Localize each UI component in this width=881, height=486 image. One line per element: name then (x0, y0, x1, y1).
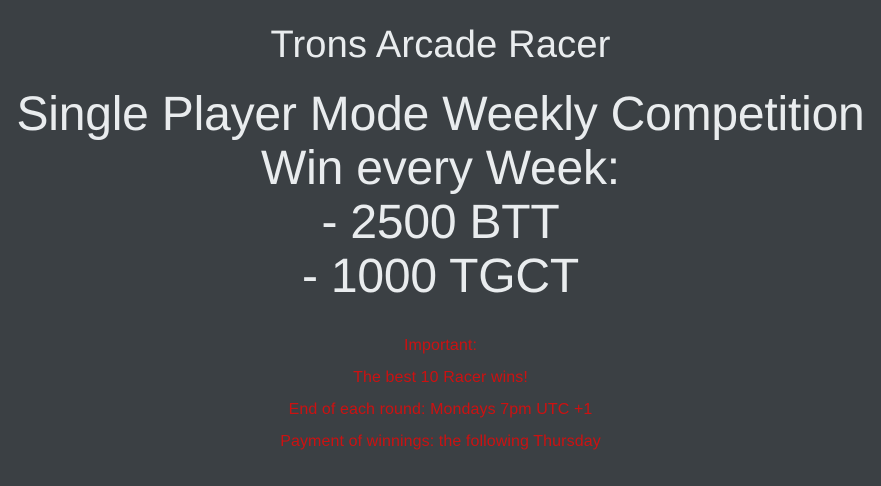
important-notes-block: Important: The best 10 Racer wins! End o… (0, 330, 881, 458)
headline-win-every-week: Win every Week: (0, 142, 881, 196)
page-title: Trons Arcade Racer (270, 26, 610, 64)
headline-competition-name: Single Player Mode Weekly Competition (0, 88, 881, 142)
prize-item-btt: - 2500 BTT (0, 196, 881, 250)
note-payment-schedule: Payment of winnings: the following Thurs… (0, 426, 881, 458)
note-best-racers: The best 10 Racer wins! (0, 362, 881, 394)
promo-poster: Trons Arcade Racer Single Player Mode We… (0, 0, 881, 486)
prize-item-tgct: - 1000 TGCT (0, 250, 881, 304)
headline-block: Single Player Mode Weekly Competition Wi… (0, 88, 881, 304)
note-round-end: End of each round: Mondays 7pm UTC +1 (0, 394, 881, 426)
note-important-label: Important: (0, 330, 881, 362)
